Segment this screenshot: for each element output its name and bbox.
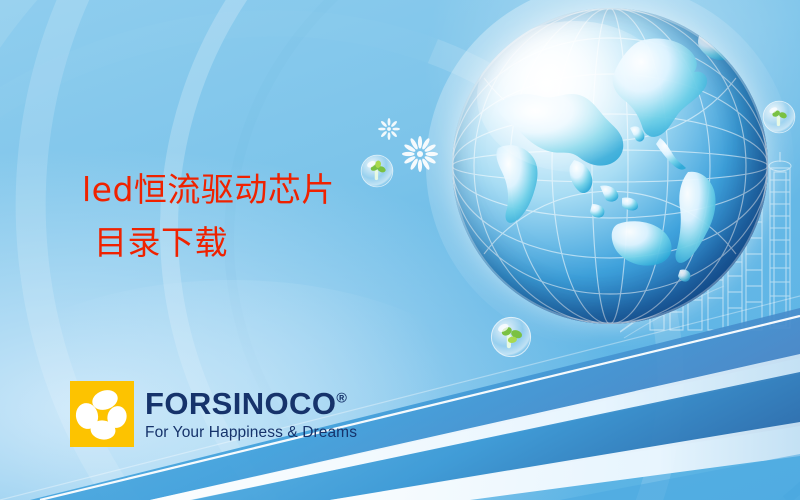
logo-tagline: For Your Happiness & Dreams: [145, 425, 357, 441]
registered-trademark-icon: ®: [336, 390, 347, 406]
promo-banner: led恒流驱动芯片 目录下载 FORSINOCO® For Your Happi…: [0, 0, 800, 500]
logo-text-block: FORSINOCO® For Your Happiness & Dreams: [145, 388, 357, 441]
white-daisy-small-icon: [378, 118, 400, 140]
logo-wordmark-text: FORSINOCO: [145, 386, 336, 421]
company-logo[interactable]: FORSINOCO® For Your Happiness & Dreams: [70, 381, 357, 447]
logo-wordmark: FORSINOCO®: [145, 388, 357, 419]
headline-line-1: led恒流驱动芯片: [82, 163, 412, 216]
headline-line-2: 目录下载: [82, 216, 412, 269]
ribbon-bands: [0, 250, 800, 500]
headline: led恒流驱动芯片 目录下载: [82, 163, 412, 270]
pinwheel-petals-logo-icon: [70, 381, 134, 447]
bubble-green-sprout-3-icon: [762, 100, 796, 134]
